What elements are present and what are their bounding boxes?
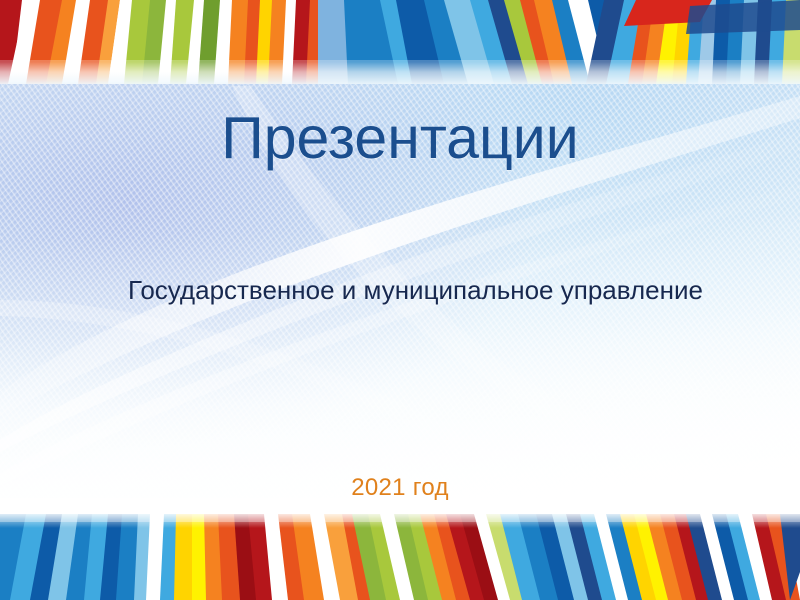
slide-subtitle: Государственное и муниципальное управлен… xyxy=(128,270,718,310)
top-band-fade xyxy=(0,62,800,84)
bottom-band-fade xyxy=(0,512,800,528)
slide-year: 2021 год xyxy=(0,474,800,503)
slide-title: Презентации xyxy=(0,108,800,170)
top-decorative-band xyxy=(0,0,800,84)
presentation-slide: Презентации Государственное и муниципаль… xyxy=(0,0,800,600)
bottom-decorative-band xyxy=(0,512,800,600)
